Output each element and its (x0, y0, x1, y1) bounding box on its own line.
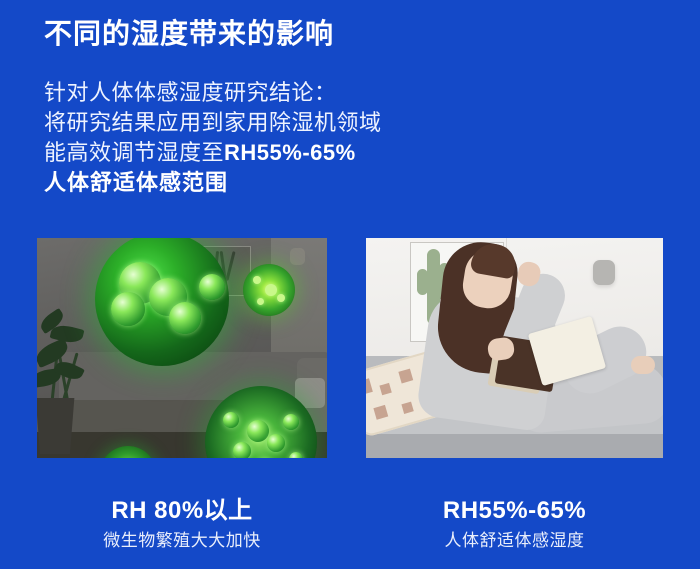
cactus-arm-icon (417, 269, 428, 295)
page-title: 不同的湿度带来的影响 (44, 16, 334, 51)
caption-left-main: RH 80%以上 (37, 496, 327, 526)
photo-panel-germs (37, 238, 327, 458)
bright-room-scene (366, 238, 663, 458)
woman-foot (631, 356, 655, 374)
caption-left-sub: 微生物繁殖大大加快 (37, 528, 327, 554)
germ-sphere-medium-icon (243, 264, 295, 316)
caption-right-sub: 人体舒适体感湿度 (366, 528, 663, 554)
germ-cell-icon (233, 442, 251, 458)
body-copy-line-1: 针对人体体感湿度研究结论： (44, 78, 382, 108)
body-copy-line-4: 人体舒适体感范围 (44, 168, 382, 198)
body-copy-line-3-strong: RH55%-65% (224, 140, 356, 165)
wall-speaker-icon (290, 248, 305, 265)
germ-spike-icon (257, 298, 264, 305)
wall-speaker-icon (593, 260, 615, 285)
body-copy: 针对人体体感湿度研究结论： 将研究结果应用到家用除湿机领域 能高效调节湿度至RH… (44, 78, 382, 198)
caption-left: RH 80%以上 微生物繁殖大大加快 (37, 496, 327, 554)
twig-icon (225, 251, 235, 281)
germ-sphere-large-icon (95, 238, 229, 366)
body-copy-line-3: 能高效调节湿度至RH55%-65% (44, 138, 382, 168)
germ-spike-icon (277, 294, 285, 302)
pillow-pattern (366, 378, 373, 395)
pillow-pattern (401, 402, 413, 414)
pillow-pattern (379, 383, 391, 395)
poster-root: 不同的湿度带来的影响 针对人体体感湿度研究结论： 将研究结果应用到家用除湿机领域… (0, 0, 700, 569)
germ-cell-icon (199, 274, 225, 300)
caption-right: RH55%-65% 人体舒适体感湿度 (366, 496, 663, 554)
body-copy-line-2: 将研究结果应用到家用除湿机领域 (44, 108, 382, 138)
pillow-pattern (398, 369, 413, 384)
germ-cell-icon (267, 434, 285, 452)
caption-right-main: RH55%-65% (366, 496, 663, 526)
sofa-base (366, 434, 663, 458)
germ-cell-icon (283, 414, 299, 430)
dim-room-scene (37, 238, 327, 458)
pillow-pattern (373, 405, 388, 420)
germ-spike-icon (253, 276, 261, 284)
germ-cell-icon (223, 412, 239, 428)
germ-cell-icon (111, 292, 145, 326)
photo-panel-comfort (366, 238, 663, 458)
germ-spike-icon (265, 284, 277, 296)
body-copy-line-3-prefix: 能高效调节湿度至 (44, 140, 224, 165)
germ-cell-icon (247, 420, 269, 442)
germ-cell-icon (169, 302, 201, 334)
germ-cell-icon (289, 452, 303, 458)
